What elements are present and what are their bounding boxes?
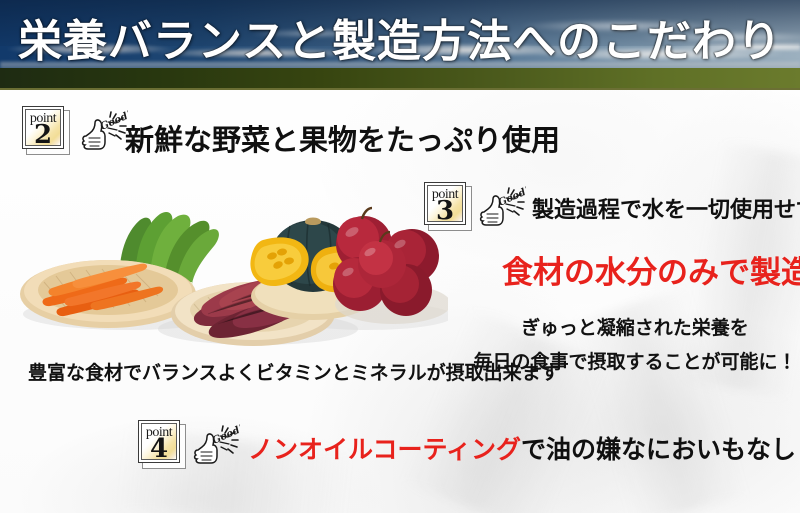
point-badge-2: point 2	[22, 106, 68, 153]
point-3-emphasis: 食材の水分のみで製造	[502, 247, 800, 292]
field-bottom-edge	[0, 88, 800, 90]
produce-photo	[8, 186, 448, 356]
badge-inner-frame: point 4	[141, 423, 177, 460]
promo-banner: 栄養バランスと製造方法へのこだわり point 2 Good! 新鮮な野菜と果物…	[0, 0, 800, 513]
good-thumbs-up-icon: Good!	[478, 186, 526, 230]
carrot-basket	[20, 260, 196, 328]
point-badge-3: point 3	[424, 182, 470, 229]
badge-outer-frame: point 3	[424, 182, 466, 225]
point-4-headline: ノンオイルコーティングで油の嫌なにおいもなし！	[248, 430, 800, 466]
badge-outer-frame: point 2	[22, 106, 64, 149]
point-2-headline: 新鮮な野菜と果物をたっぷり使用	[125, 117, 560, 159]
point-3-subline-1: ぎゅっと凝縮された栄養を	[470, 313, 800, 340]
badge-inner-frame: point 3	[427, 185, 463, 222]
badge-outer-frame: point 4	[138, 420, 180, 463]
badge-number-label: 2	[26, 122, 60, 146]
point-4-headline-red: ノンオイルコーティング	[248, 435, 521, 464]
page-title: 栄養バランスと製造方法へのこだわり	[0, 6, 800, 78]
point-badge-4: point 4	[138, 420, 184, 467]
good-thumbs-up-icon: Good!	[80, 110, 128, 154]
point-3-headline: 製造過程で水を一切使用せず、	[532, 192, 800, 224]
badge-inner-frame: point 2	[25, 109, 61, 146]
point-4-headline-black: で油の嫌なにおいもなし！	[521, 435, 800, 464]
badge-number-label: 3	[428, 198, 462, 222]
good-thumbs-up-icon: Good!	[192, 424, 240, 468]
produce-caption: 豊富な食材でバランスよくビタミンとミネラルが摂取出来ます	[28, 358, 560, 385]
header-banner: 栄養バランスと製造方法へのこだわり	[0, 0, 800, 90]
badge-number-label: 4	[142, 436, 176, 460]
